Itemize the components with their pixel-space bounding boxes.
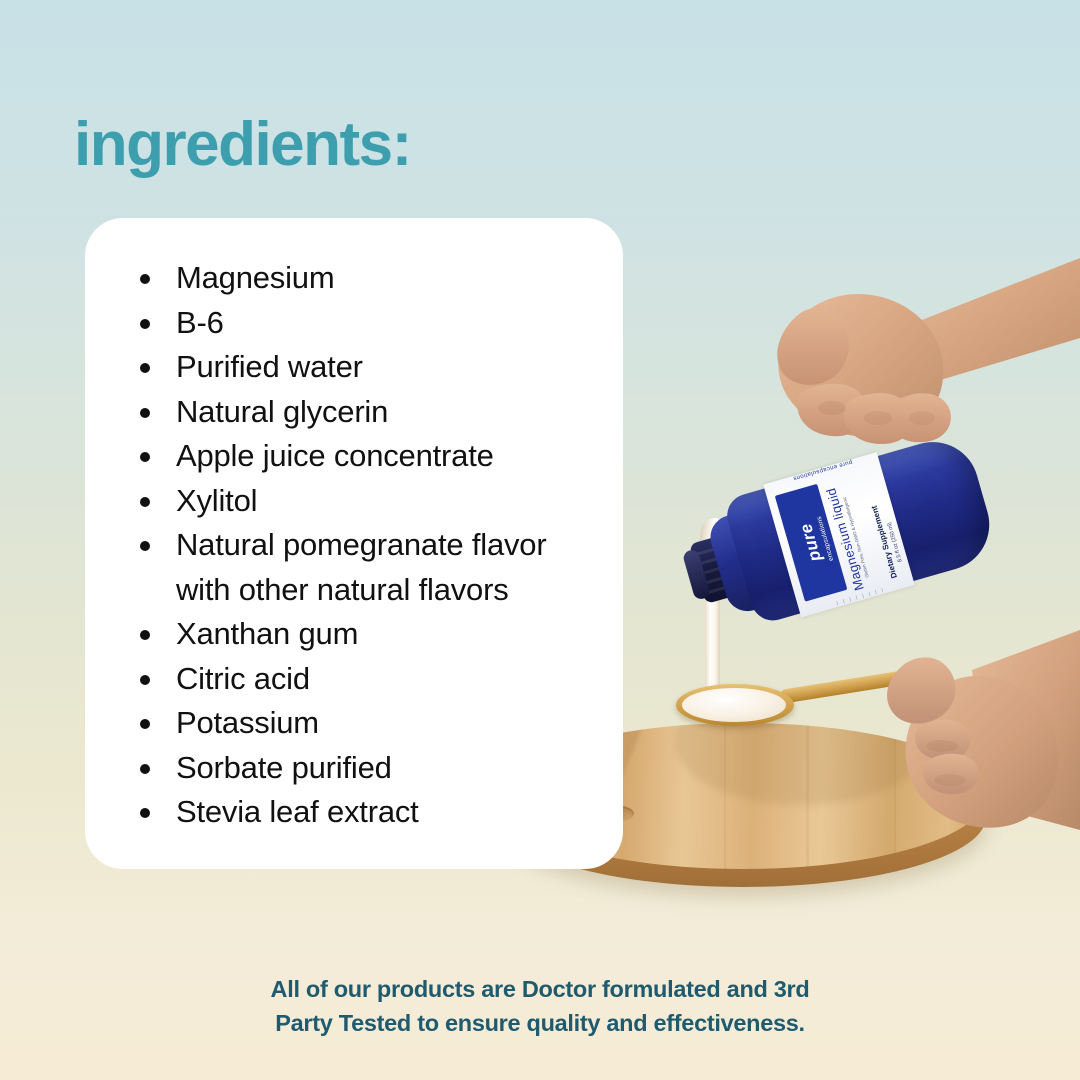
ingredient-label: Stevia leaf extract — [176, 794, 419, 829]
list-item: Stevia leaf extract — [140, 790, 610, 835]
footer-line-1: All of our products are Doctor formulate… — [0, 972, 1080, 1006]
ingredients-card: Magnesium B-6 Purified water Natural gly… — [85, 218, 623, 869]
ingredient-label: Citric acid — [176, 661, 310, 696]
ingredient-label: Natural glycerin — [176, 394, 388, 429]
list-item: Apple juice concentrate — [140, 434, 610, 479]
list-item: Natural pomegranate flavor with other na… — [140, 523, 610, 612]
footer-line-2: Party Tested to ensure quality and effec… — [0, 1006, 1080, 1040]
ingredient-label-continuation: with other natural flavors — [176, 568, 610, 613]
footer-disclaimer: All of our products are Doctor formulate… — [0, 972, 1080, 1040]
ingredient-label: Sorbate purified — [176, 750, 392, 785]
ingredient-label: Xanthan gum — [176, 616, 358, 651]
spoon-bowl — [676, 684, 794, 726]
hand-holding-bottle — [736, 238, 1080, 538]
ingredient-label: B-6 — [176, 305, 224, 340]
ingredient-label: Apple juice concentrate — [176, 438, 494, 473]
ingredients-list: Magnesium B-6 Purified water Natural gly… — [140, 256, 610, 835]
list-item: Natural glycerin — [140, 390, 610, 435]
ingredient-label: Natural pomegranate flavor — [176, 527, 546, 562]
hand-holding-spoon — [880, 600, 1080, 850]
list-item: Potassium — [140, 701, 610, 746]
liquid-on-spoon — [682, 688, 786, 722]
list-item: Citric acid — [140, 657, 610, 702]
ingredient-label: Xylitol — [176, 483, 257, 518]
ingredients-promo-graphic: ingredients: — [0, 0, 1080, 1080]
ingredient-label: Magnesium — [176, 260, 334, 295]
list-item: Xylitol — [140, 479, 610, 524]
ingredient-label: Potassium — [176, 705, 319, 740]
ingredient-label: Purified water — [176, 349, 363, 384]
list-item: B-6 — [140, 301, 610, 346]
list-item: Purified water — [140, 345, 610, 390]
list-item: Magnesium — [140, 256, 610, 301]
list-item: Sorbate purified — [140, 746, 610, 791]
list-item: Xanthan gum — [140, 612, 610, 657]
